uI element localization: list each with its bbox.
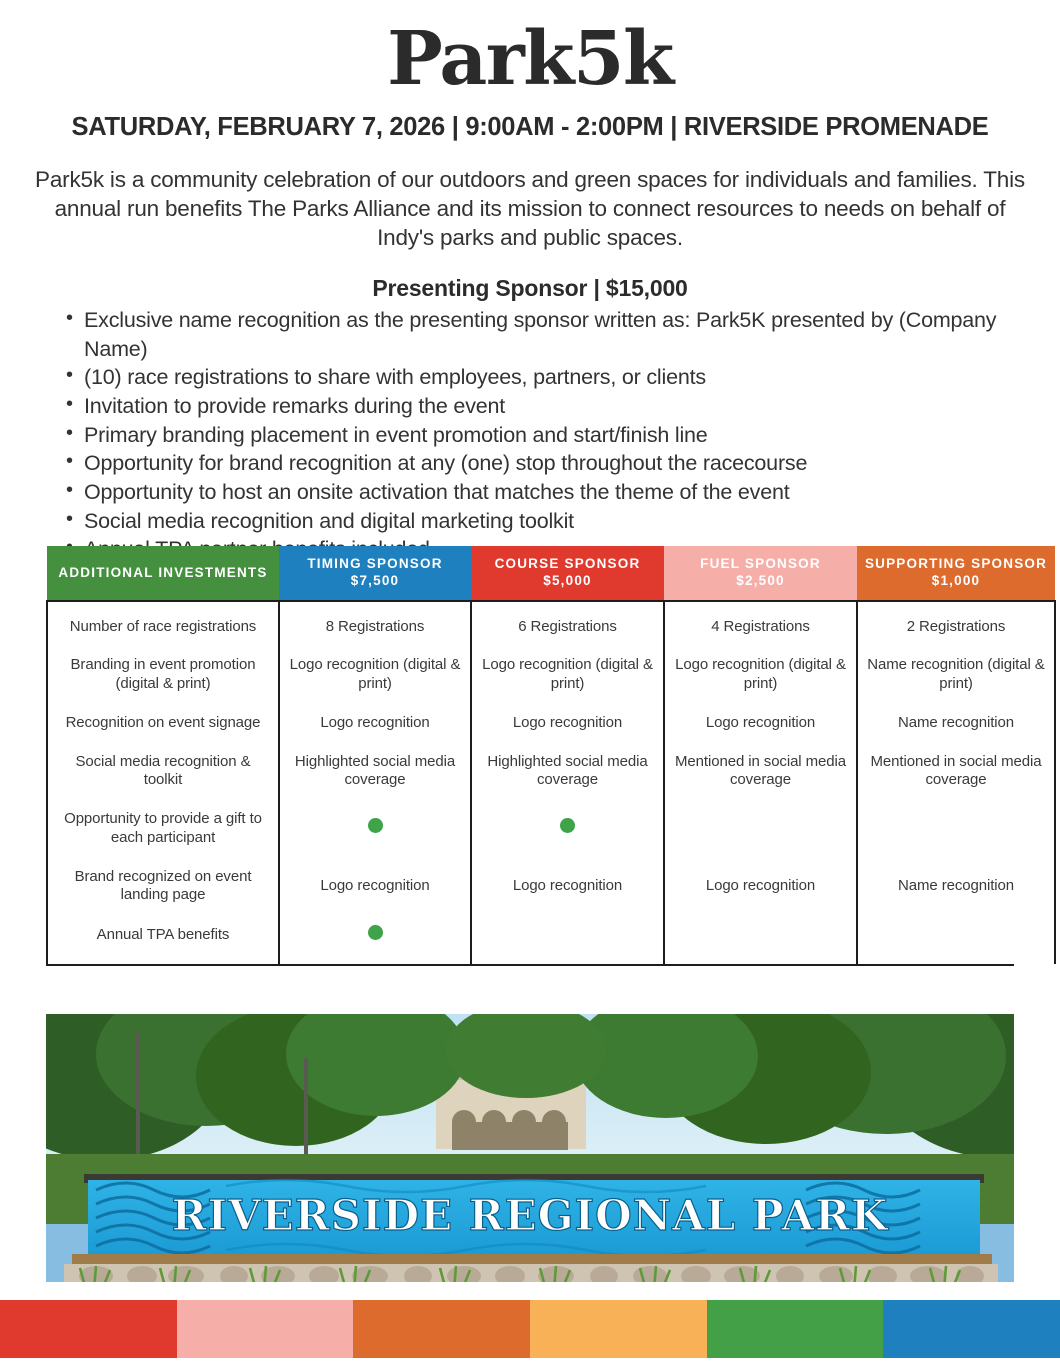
cell-course: Logo recognition (digital & print) [471,646,664,704]
cell-fuel: Logo recognition [664,858,857,916]
cell-supporting: Name recognition [857,858,1055,916]
table-header-row: ADDITIONAL INVESTMENTS TIMING SPONSOR $7… [47,546,1055,601]
color-swatch-red [0,1300,177,1358]
row-label: Branding in event promotion (digital & p… [47,646,279,704]
cell-course: Highlighted social media coverage [471,743,664,801]
color-swatch-light-orange [530,1300,707,1358]
cell-fuel: Logo recognition [664,704,857,743]
column-header-title: COURSE SPONSOR [475,555,660,572]
cell-supporting: Name recognition (digital & print) [857,646,1055,704]
column-header-timing-sponsor: TIMING SPONSOR $7,500 [279,546,471,601]
column-header-title: SUPPORTING SPONSOR [861,555,1051,572]
row-label: Annual TPA benefits [47,915,279,964]
cell-timing [279,800,471,858]
color-swatch-blue [883,1300,1060,1358]
list-item: (10) race registrations to share with em… [66,363,1020,392]
table-bottom-rule [46,964,1014,967]
check-dot-icon [368,818,383,833]
column-header-amount: $7,500 [283,572,467,589]
cell-course: 6 Registrations [471,601,664,647]
cell-supporting: Mentioned in social media coverage [857,743,1055,801]
column-header-course-sponsor: COURSE SPONSOR $5,000 [471,546,664,601]
color-swatch-orange [353,1300,530,1358]
column-header-amount: $2,500 [668,572,853,589]
list-item: Social media recognition and digital mar… [66,507,1020,536]
color-swatch-green [707,1300,884,1358]
color-swatch-pink [177,1300,354,1358]
cell-fuel: Logo recognition (digital & print) [664,646,857,704]
cell-supporting: 2 Registrations [857,601,1055,647]
list-item: Invitation to provide remarks during the… [66,392,1020,421]
cell-timing [279,915,471,964]
row-label: Social media recognition & toolkit [47,743,279,801]
cell-timing: 8 Registrations [279,601,471,647]
column-header-supporting-sponsor: SUPPORTING SPONSOR $1,000 [857,546,1055,601]
row-label: Opportunity to provide a gift to each pa… [47,800,279,858]
cell-fuel [664,915,857,964]
table-row: Annual TPA benefits [47,915,1055,964]
cell-course [471,800,664,858]
event-details-line: SATURDAY, FEBRUARY 7, 2026 | 9:00AM - 2:… [0,113,1060,142]
cell-timing: Logo recognition [279,704,471,743]
table-row: Branding in event promotion (digital & p… [47,646,1055,704]
row-label: Number of race registrations [47,601,279,647]
cell-course: Logo recognition [471,858,664,916]
check-dot-icon [368,925,383,940]
column-header-title: ADDITIONAL INVESTMENTS [51,564,275,581]
table-body: Number of race registrations 8 Registrat… [47,601,1055,964]
cell-supporting [857,800,1055,858]
column-header-amount: $5,000 [475,572,660,589]
table-row: Brand recognized on event landing page L… [47,858,1055,916]
list-item: Opportunity for brand recognition at any… [66,449,1020,478]
list-item: Primary branding placement in event prom… [66,421,1020,450]
column-header-amount: $1,000 [861,572,1051,589]
cell-course [471,915,664,964]
sign-text: RIVERSIDE REGIONAL PARK [172,1191,889,1240]
table-row: Number of race registrations 8 Registrat… [47,601,1055,647]
footer-color-bar [0,1300,1060,1358]
list-item: Opportunity to host an onsite activation… [66,478,1020,507]
presenting-sponsor-heading: Presenting Sponsor | $15,000 [0,275,1060,302]
cell-fuel: 4 Registrations [664,601,857,647]
row-label: Brand recognized on event landing page [47,858,279,916]
cell-fuel [664,800,857,858]
table-row: Opportunity to provide a gift to each pa… [47,800,1055,858]
column-header-title: FUEL SPONSOR [668,555,853,572]
column-header-additional-investments: ADDITIONAL INVESTMENTS [47,546,279,601]
park-sign-photo: RIVERSIDE REGIONAL PARK [46,1014,1014,1282]
cell-supporting [857,915,1055,964]
cell-timing: Logo recognition [279,858,471,916]
additional-investments-table: ADDITIONAL INVESTMENTS TIMING SPONSOR $7… [46,546,1014,966]
column-header-title: TIMING SPONSOR [283,555,467,572]
cell-supporting: Name recognition [857,704,1055,743]
cell-timing: Highlighted social media coverage [279,743,471,801]
intro-paragraph: Park5k is a community celebration of our… [28,166,1032,252]
cell-timing: Logo recognition (digital & print) [279,646,471,704]
table-header: ADDITIONAL INVESTMENTS TIMING SPONSOR $7… [47,546,1055,601]
table-row: Social media recognition & toolkit Highl… [47,743,1055,801]
park-sign-illustration: RIVERSIDE REGIONAL PARK [46,1014,1014,1282]
sponsorship-flyer-page: Park5k SATURDAY, FEBRUARY 7, 2026 | 9:00… [0,0,1060,1372]
table-row: Recognition on event signage Logo recogn… [47,704,1055,743]
check-dot-icon [560,818,575,833]
cell-course: Logo recognition [471,704,664,743]
cell-fuel: Mentioned in social media coverage [664,743,857,801]
column-header-fuel-sponsor: FUEL SPONSOR $2,500 [664,546,857,601]
row-label: Recognition on event signage [47,704,279,743]
list-item: Exclusive name recognition as the presen… [66,306,1020,363]
page-title: Park5k [0,0,1060,97]
